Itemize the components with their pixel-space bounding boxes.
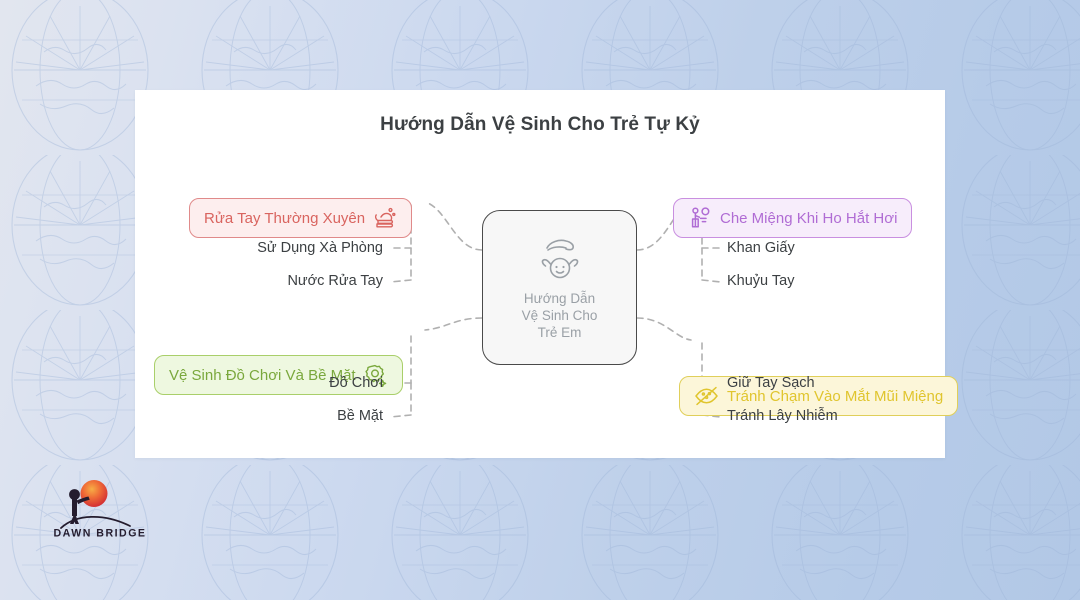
branch-clean-toys-surfaces-label: Vệ Sinh Đồ Chơi Và Bề Mặt bbox=[169, 367, 356, 384]
child-care-icon bbox=[534, 235, 586, 286]
logo-orb bbox=[81, 480, 108, 507]
subitem-hand-wash-liquid[interactable]: Nước Rửa Tay bbox=[287, 273, 383, 289]
center-node-label: Hướng Dẫn Vệ Sinh Cho Trẻ Em bbox=[514, 290, 606, 341]
center-label-line-1: Hướng Dẫn bbox=[522, 290, 598, 307]
eye-off-icon bbox=[694, 385, 719, 407]
center-label-line-3: Trẻ Em bbox=[522, 324, 598, 341]
content-card: Hướng Dẫn Vệ Sinh Cho Trẻ Tự Kỷ bbox=[135, 90, 945, 458]
branch-cover-mouth-label: Che Miệng Khi Ho Hắt Hơi bbox=[720, 210, 897, 227]
subitem-elbow[interactable]: Khuỷu Tay bbox=[727, 273, 794, 289]
branch-wash-hands[interactable]: Rửa Tay Thường Xuyên bbox=[189, 198, 412, 238]
branch-wash-hands-label: Rửa Tay Thường Xuyên bbox=[204, 210, 365, 227]
branch-cover-mouth[interactable]: Che Miệng Khi Ho Hắt Hơi bbox=[673, 198, 912, 238]
subitem-surfaces[interactable]: Bề Mặt bbox=[337, 408, 383, 424]
person-cough-icon bbox=[688, 206, 712, 230]
dawn-bridge-logo: DAWN BRIDGE bbox=[52, 478, 148, 540]
subitem-tissue[interactable]: Khan Giấy bbox=[727, 240, 795, 256]
subitem-soap[interactable]: Sử Dụng Xà Phòng bbox=[257, 240, 383, 256]
mindmap-center-node[interactable]: Hướng Dẫn Vệ Sinh Cho Trẻ Em bbox=[482, 210, 637, 365]
subitem-toys[interactable]: Đồ Chơi bbox=[329, 375, 383, 391]
hand-washing-icon bbox=[373, 207, 397, 229]
center-label-line-2: Vệ Sinh Cho bbox=[522, 307, 598, 324]
subitem-avoid-infection[interactable]: Tránh Lây Nhiễm bbox=[727, 408, 838, 424]
subitem-keep-hands-clean[interactable]: Giữ Tay Sạch bbox=[727, 375, 815, 391]
logo-text: DAWN BRIDGE bbox=[53, 528, 146, 540]
screenshot-stage: Hướng Dẫn Vệ Sinh Cho Trẻ Tự Kỷ bbox=[0, 0, 1080, 600]
mindmap-canvas: Hướng Dẫn Vệ Sinh Cho Trẻ Em Rửa Tay Thư… bbox=[135, 90, 945, 458]
